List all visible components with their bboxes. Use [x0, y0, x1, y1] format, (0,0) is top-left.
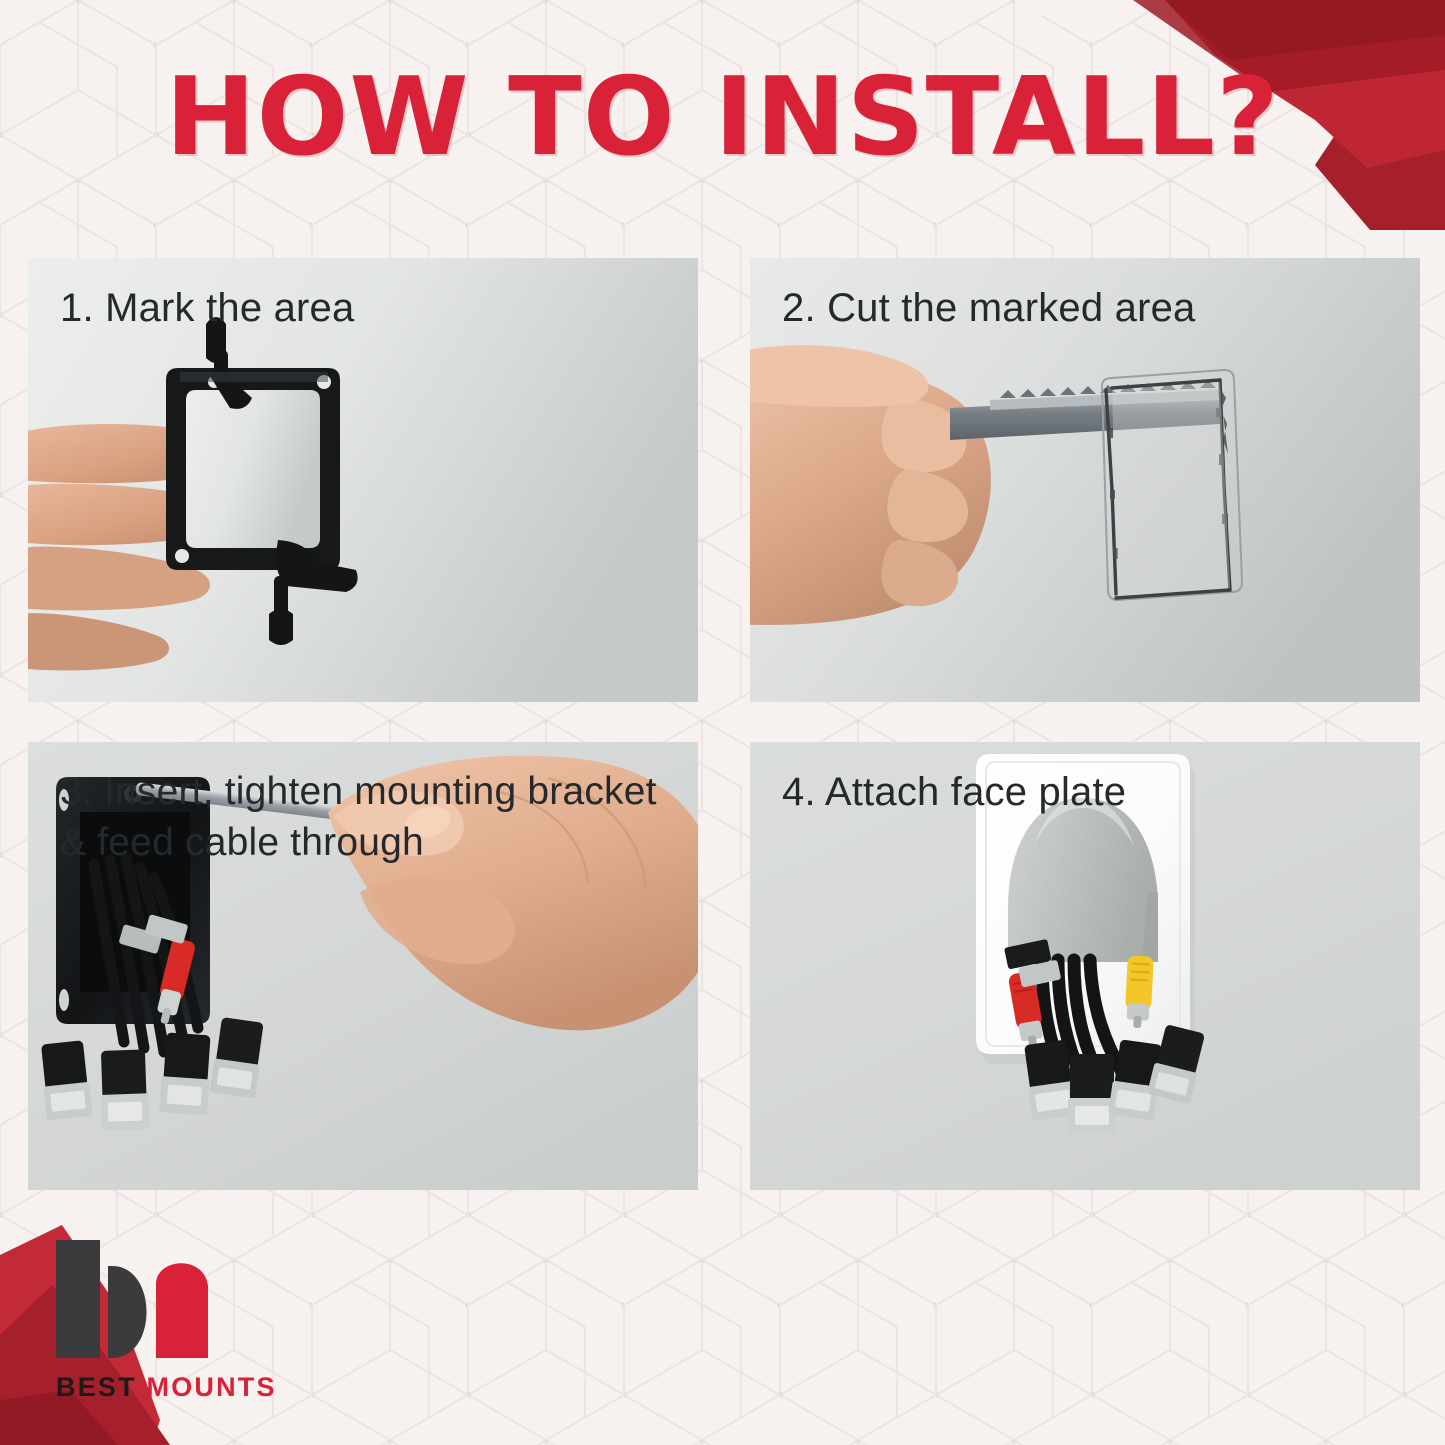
steps-grid: 1. Mark the area — [28, 258, 1420, 1190]
page-title: HOW TO INSTALL? — [0, 58, 1445, 179]
step-panel-4: 4. Attach face plate — [750, 742, 1420, 1190]
step-1-label: 1. Mark the area — [60, 282, 354, 335]
step-4-label: 4. Attach face plate — [782, 766, 1126, 819]
brand-wordmark: BEST MOUNTS — [56, 1372, 277, 1403]
brand-name-part2: MOUNTS — [147, 1372, 277, 1402]
brand-logo: BEST MOUNTS — [52, 1240, 277, 1403]
step-3-label: 3. Insert, tighten mounting bracket & fe… — [60, 766, 657, 869]
infographic-canvas: HOW TO INSTALL? — [0, 0, 1445, 1445]
brand-name-part1: BEST — [56, 1372, 137, 1402]
step-panel-2: 2. Cut the marked area — [750, 258, 1420, 702]
step-2-label: 2. Cut the marked area — [782, 282, 1196, 335]
bn-monogram-icon — [52, 1240, 222, 1358]
step-panel-3: 3. Insert, tighten mounting bracket & fe… — [28, 742, 698, 1190]
step-panel-1: 1. Mark the area — [28, 258, 698, 702]
